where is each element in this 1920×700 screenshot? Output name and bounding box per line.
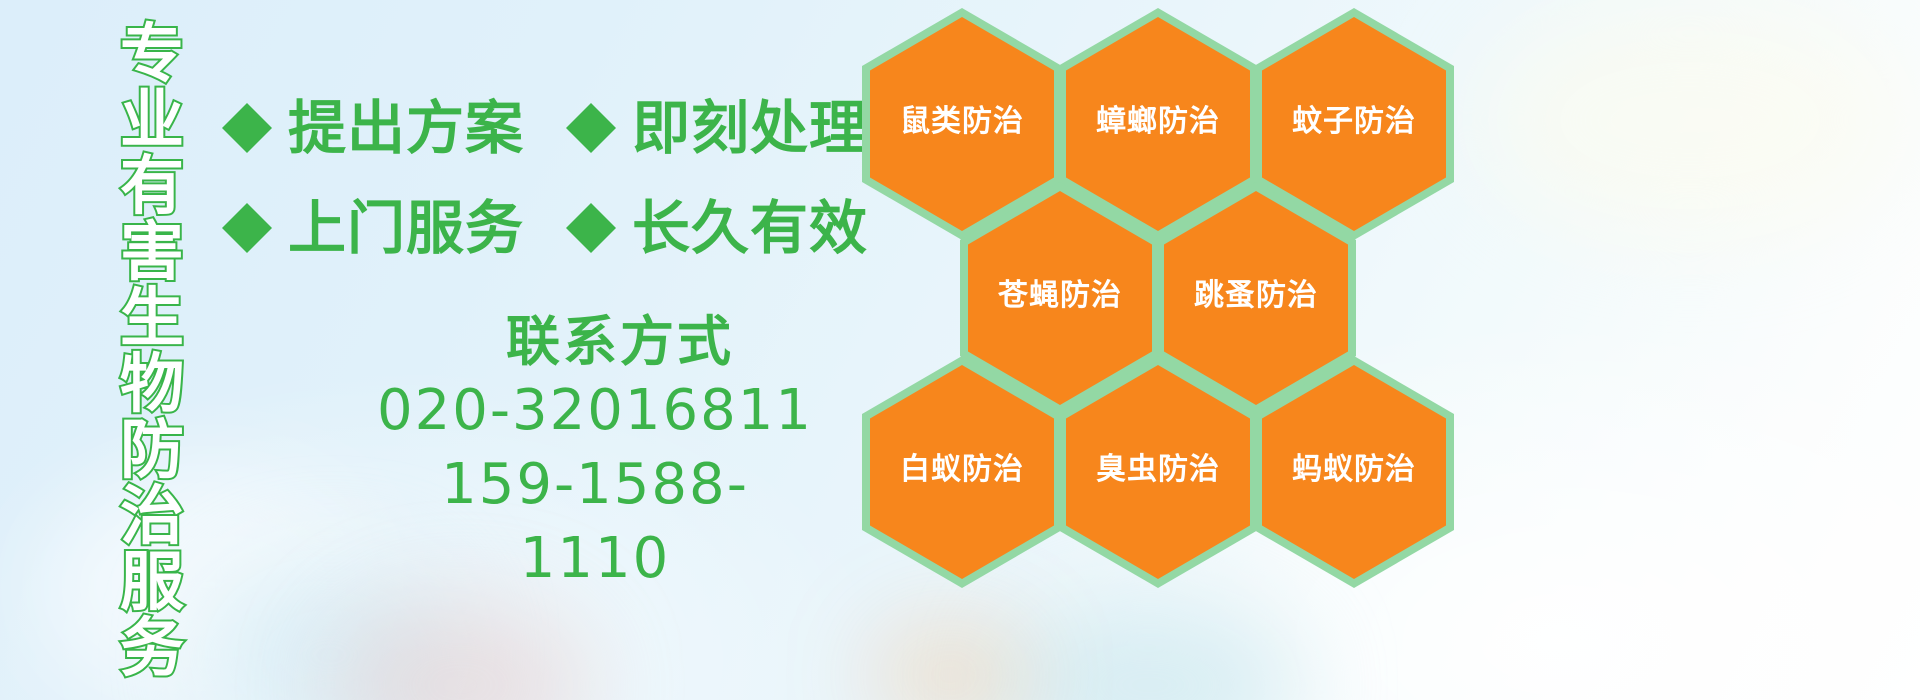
feature-list: 提出方案 即刻处理 上门服务 长久有效 [222, 78, 862, 278]
headline-char: 务 [120, 616, 184, 682]
service-label: 苍蝇防治 [998, 279, 1122, 313]
feature-row: 提出方案 即刻处理 [222, 78, 862, 178]
service-label: 臭虫防治 [1096, 453, 1220, 487]
feature-row: 上门服务 长久有效 [222, 178, 862, 278]
headline-char: 专 [120, 22, 184, 88]
service-label: 蚊子防治 [1292, 105, 1416, 139]
service-hex-ant[interactable]: 蚂蚁防治 [1254, 356, 1454, 588]
feature-item: 即刻处理 [566, 99, 868, 157]
promo-banner: 专 业 有 害 生 物 防 治 服 务 提出方案 即刻处理 上门服务 [0, 0, 1920, 700]
contact-phone-landline[interactable]: 020-32016811 [370, 374, 820, 448]
headline-char: 治 [120, 484, 184, 550]
background-blur-shape [330, 600, 590, 700]
diamond-icon [222, 78, 272, 128]
diamond-icon [222, 178, 272, 228]
headline-char: 生 [120, 286, 184, 352]
background-blur-shape [1480, 0, 1900, 240]
service-hex-termite[interactable]: 白蚁防治 [862, 356, 1062, 588]
service-honeycomb: 鼠类防治 蟑螂防治 蚊子防治 苍蝇防治 跳蚤防治 [862, 0, 1462, 580]
vertical-headline: 专 业 有 害 生 物 防 治 服 务 [104, 22, 200, 550]
headline-char: 业 [120, 88, 184, 154]
service-hex-bedbug[interactable]: 臭虫防治 [1058, 356, 1258, 588]
feature-item: 长久有效 [566, 199, 868, 257]
feature-label: 长久有效 [632, 199, 868, 257]
service-label: 鼠类防治 [900, 105, 1024, 139]
service-label: 白蚁防治 [900, 453, 1024, 487]
contact-phone-mobile[interactable]: 159-1588-1110 [370, 448, 820, 596]
headline-char: 害 [120, 220, 184, 286]
feature-label: 提出方案 [288, 99, 524, 157]
feature-label: 上门服务 [288, 199, 524, 257]
headline-char: 物 [120, 352, 184, 418]
background-blur-shape [1000, 600, 1300, 700]
feature-label: 即刻处理 [632, 99, 868, 157]
headline-char: 防 [120, 418, 184, 484]
service-label: 跳蚤防治 [1194, 279, 1318, 313]
headline-char: 有 [120, 154, 184, 220]
service-label: 蟑螂防治 [1096, 105, 1220, 139]
background-blur-shape [870, 620, 1030, 700]
diamond-icon [566, 178, 616, 228]
contact-title: 联系方式 [420, 310, 820, 374]
feature-item: 上门服务 [222, 199, 524, 257]
headline-char: 服 [120, 550, 184, 616]
service-label: 蚂蚁防治 [1292, 453, 1416, 487]
contact-block: 联系方式 020-32016811 159-1588-1110 [300, 310, 820, 596]
feature-item: 提出方案 [222, 99, 524, 157]
diamond-icon [566, 78, 616, 128]
